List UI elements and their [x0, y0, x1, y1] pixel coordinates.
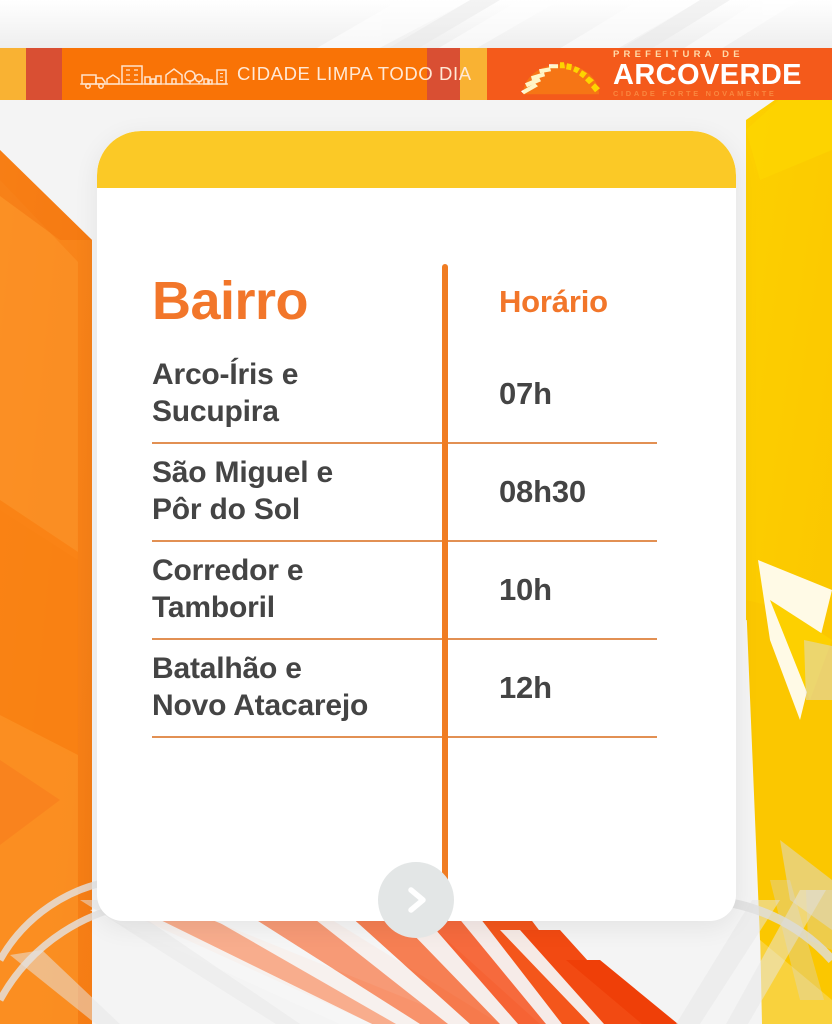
row-label-bairro: Batalhão eNovo Atacarejo — [152, 651, 438, 724]
row-cell-horario: 08h30 — [452, 473, 657, 510]
row-cell-bairro: São Miguel ePôr do Sol — [152, 455, 452, 528]
table-row: São Miguel ePôr do Sol 08h30 — [152, 444, 657, 540]
row-label-horario: 12h — [499, 669, 657, 706]
row-label-bairro: Corredor eTamboril — [152, 553, 438, 626]
poster-canvas: CIDADE LIMPA TODO DIA — [0, 0, 832, 1024]
row-cell-horario: 12h — [452, 669, 657, 706]
prefeitura-logo: PREFEITURA DE ARCOVERDE CIDADE FORTE NOV… — [519, 50, 802, 98]
table-row: Arco-Íris eSucupira 07h — [152, 346, 657, 442]
row-label-horario: 10h — [499, 571, 657, 608]
row-label-bairro: São Miguel ePôr do Sol — [152, 455, 438, 528]
schedule-table: Bairro Horário Arco-Íris eSucupira 07h — [152, 256, 657, 738]
header-cell-horario: Horário — [452, 286, 657, 317]
city-skyline-icon — [80, 58, 228, 90]
header-cell-bairro: Bairro — [152, 274, 452, 328]
table-row: Corredor eTamboril 10h — [152, 542, 657, 638]
row-label-bairro: Arco-Íris eSucupira — [152, 357, 438, 430]
banner-segment-orange-main: CIDADE LIMPA TODO DIA — [62, 48, 427, 100]
banner-tagline: CIDADE LIMPA TODO DIA — [237, 63, 472, 85]
card-top-accent-bar — [97, 131, 736, 188]
next-slide-button[interactable] — [378, 862, 454, 938]
row-divider — [152, 736, 657, 738]
row-label-horario: 07h — [499, 375, 657, 412]
row-cell-horario: 07h — [452, 375, 657, 412]
header-label-bairro: Bairro — [152, 274, 438, 328]
schedule-card: Bairro Horário Arco-Íris eSucupira 07h — [97, 131, 736, 921]
row-cell-bairro: Batalhão eNovo Atacarejo — [152, 651, 452, 724]
logo-arcoverde-line: ARCOVERDE — [613, 62, 802, 89]
banner-slogan-group: CIDADE LIMPA TODO DIA — [80, 48, 472, 100]
banner-segment-yellow-left — [0, 48, 26, 100]
row-cell-horario: 10h — [452, 571, 657, 608]
top-banner: CIDADE LIMPA TODO DIA — [0, 48, 832, 100]
banner-segment-red-left — [26, 48, 62, 100]
sunburst-icon — [519, 53, 601, 95]
chevron-right-icon — [399, 883, 433, 917]
logo-text-group: PREFEITURA DE ARCOVERDE CIDADE FORTE NOV… — [613, 50, 802, 98]
header-label-horario: Horário — [499, 286, 657, 317]
banner-segment-logo: PREFEITURA DE ARCOVERDE CIDADE FORTE NOV… — [487, 48, 832, 100]
table-header-row: Bairro Horário — [152, 256, 657, 346]
row-cell-bairro: Arco-Íris eSucupira — [152, 357, 452, 430]
table-vertical-divider — [442, 264, 448, 921]
logo-slogan-line: CIDADE FORTE NOVAMENTE — [613, 90, 802, 97]
row-cell-bairro: Corredor eTamboril — [152, 553, 452, 626]
row-label-horario: 08h30 — [499, 473, 657, 510]
table-row: Batalhão eNovo Atacarejo 12h — [152, 640, 657, 736]
